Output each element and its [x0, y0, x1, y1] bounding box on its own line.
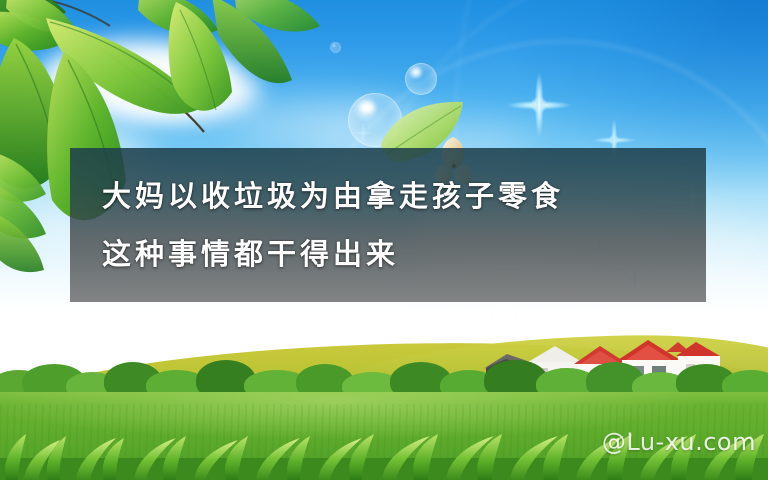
- watermark: @Lu-xu.com: [602, 428, 756, 456]
- caption-banner: 大妈以收垃圾为由拿走孩子零食 这种事情都干得出来: [70, 148, 706, 302]
- sparkle-icon: [506, 72, 572, 138]
- screenshot-canvas: 大妈以收垃圾为由拿走孩子零食 这种事情都干得出来 @Lu-xu.com: [0, 0, 768, 480]
- caption-line-2: 这种事情都干得出来: [102, 225, 706, 283]
- caption-line-1: 大妈以收垃圾为由拿走孩子零食: [102, 167, 706, 225]
- landscape: [0, 330, 768, 480]
